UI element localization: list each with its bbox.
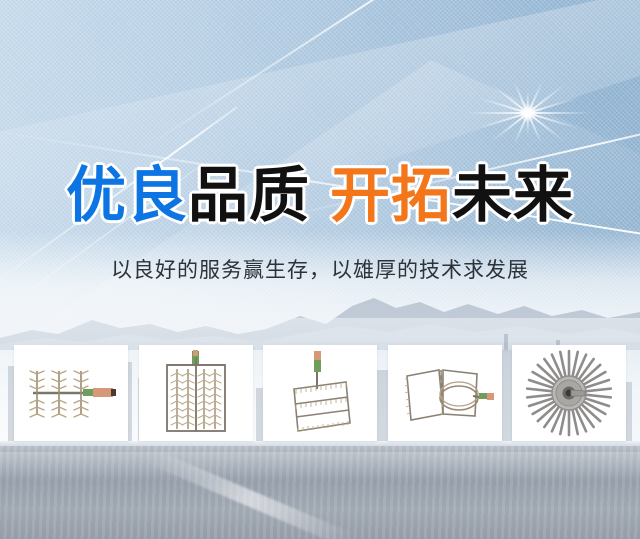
headline-block: 优良品质开拓未来: [0, 163, 640, 229]
product-thumbnail-4[interactable]: [388, 345, 502, 441]
product-thumbnail-1[interactable]: [14, 345, 128, 441]
light-ray-icon: [139, 0, 640, 152]
plating-rack-ring-square-frame-icon: [395, 358, 495, 428]
page-subtitle: 以良好的服务赢生存，以雄厚的技术求发展: [0, 255, 640, 285]
ground-edge-line: [0, 441, 640, 446]
product-thumbnail-3[interactable]: [263, 345, 377, 441]
plating-rack-radial-star-disc-icon: [525, 349, 613, 437]
page-title: 优良品质开拓未来: [66, 163, 574, 229]
product-thumbnail-5[interactable]: [512, 345, 626, 441]
plating-rack-dense-tooth-frame-icon: [155, 349, 237, 437]
ground-sheen: [0, 452, 640, 478]
headline-segment-dark-2: 未来: [452, 161, 574, 231]
product-thumbnail-strip: [14, 345, 626, 441]
headline-segment-orange: 开拓: [330, 161, 452, 231]
headline-segment-blue: 优良: [66, 161, 188, 231]
headline-segment-dark-1: 品质: [188, 161, 310, 231]
plating-rack-flat-panel-frame-icon: [280, 349, 360, 437]
plating-rack-comb-multi-arm-icon: [19, 353, 123, 433]
product-thumbnail-2[interactable]: [139, 345, 253, 441]
promo-banner: 优良品质开拓未来 以良好的服务赢生存，以雄厚的技术求发展: [0, 0, 640, 539]
